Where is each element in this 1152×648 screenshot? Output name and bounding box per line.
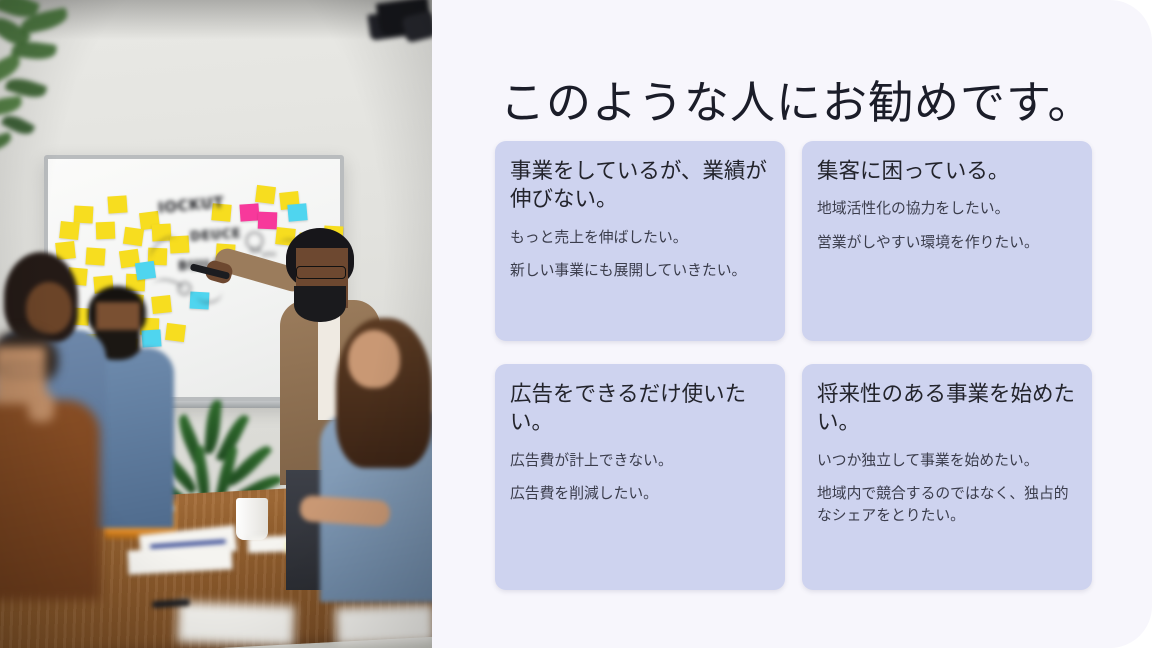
card-line: 営業がしやすい環境を作りたい。 <box>817 233 1076 254</box>
card-business-performance[interactable]: 事業をしているが、業績が伸びない。 もっと売上を伸ばしたい。 新しい事業にも展開… <box>495 141 785 341</box>
cards-grid: 事業をしているが、業績が伸びない。 もっと売上を伸ばしたい。 新しい事業にも展開… <box>495 141 1095 590</box>
card-title: 将来性のある事業を始めたい。 <box>817 380 1076 437</box>
card-line: もっと売上を伸ばしたい。 <box>510 228 769 249</box>
hero-photo: IOCKUT DEUCE BUILD you tomb make it <box>0 0 432 648</box>
card-future-business[interactable]: 将来性のある事業を始めたい。 いつか独立して事業を始めたい。 地域内で競合するの… <box>802 364 1092 590</box>
card-line: 広告費が計上できない。 <box>510 451 769 472</box>
card-line: いつか独立して事業を始めたい。 <box>817 451 1076 472</box>
card-line: 地域内で競合するのではなく、独占的なシェアをとりたい。 <box>817 484 1076 527</box>
card-title: 集客に困っている。 <box>817 157 1076 185</box>
card-title: 広告をできるだけ使いたい。 <box>510 380 769 437</box>
slide-root: IOCKUT DEUCE BUILD you tomb make it <box>0 0 1152 648</box>
card-line: 新しい事業にも展開していきたい。 <box>510 261 769 282</box>
card-line: 広告費を削減したい。 <box>510 484 769 505</box>
card-advertising[interactable]: 広告をできるだけ使いたい。 広告費が計上できない。 広告費を削減したい。 <box>495 364 785 590</box>
card-customer-acquisition[interactable]: 集客に困っている。 地域活性化の協力をしたい。 営業がしやすい環境を作りたい。 <box>802 141 1092 341</box>
photo-vignette <box>0 0 432 648</box>
card-line: 地域活性化の協力をしたい。 <box>817 199 1076 220</box>
card-title: 事業をしているが、業績が伸びない。 <box>510 157 769 214</box>
page-title: このような人にお勧めです。 <box>500 75 1094 131</box>
content-panel: このような人にお勧めです。 事業をしているが、業績が伸びない。 もっと売上を伸ば… <box>432 0 1152 648</box>
